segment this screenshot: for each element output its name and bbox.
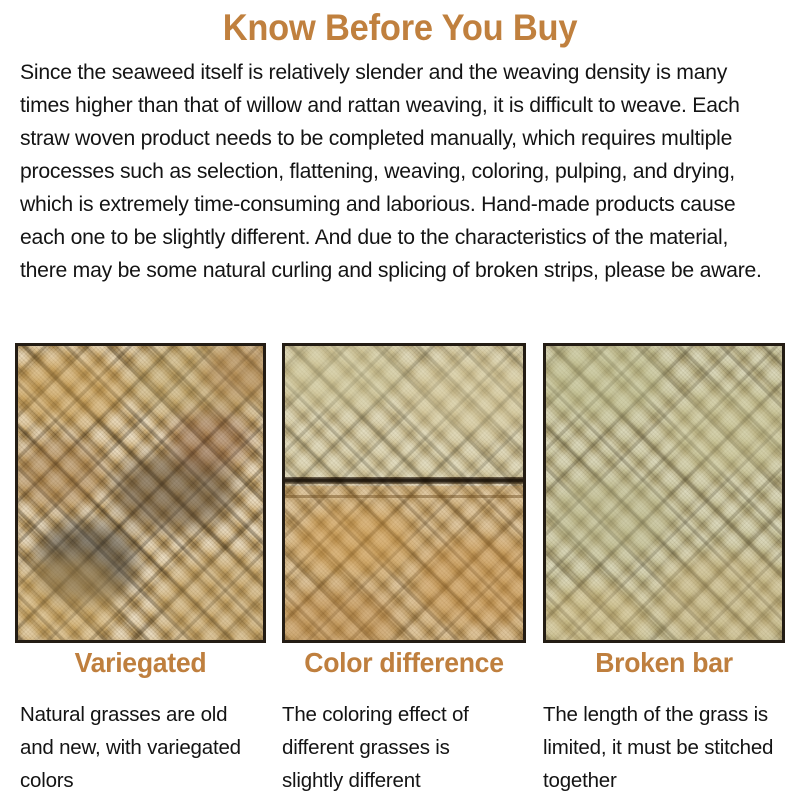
panel-image-row [0, 343, 800, 643]
panel-image-variegated [15, 343, 266, 643]
intro-paragraph: Since the seaweed itself is relatively s… [20, 56, 769, 287]
weave-color-blobs [285, 346, 523, 640]
panel-label-color-difference: Color difference [288, 645, 520, 681]
panel-label-row: Variegated Color difference Broken bar [0, 645, 800, 687]
panel-image-broken-bar [543, 343, 785, 643]
page-title: Know Before You Buy [28, 6, 772, 50]
panel-label-variegated: Variegated [21, 645, 259, 681]
panel-description-broken-bar: The length of the grass is limited, it m… [543, 698, 791, 797]
panel-description-row: Natural grasses are old and new, with va… [0, 698, 800, 806]
panel-description-color-difference: The coloring effect of different grasses… [282, 698, 510, 797]
panel-label-broken-bar: Broken bar [549, 645, 779, 681]
weave-color-blobs [18, 346, 263, 640]
weave-color-blobs [546, 346, 782, 640]
panel-description-variegated: Natural grasses are old and new, with va… [20, 698, 245, 797]
panel-image-color-difference [282, 343, 526, 643]
